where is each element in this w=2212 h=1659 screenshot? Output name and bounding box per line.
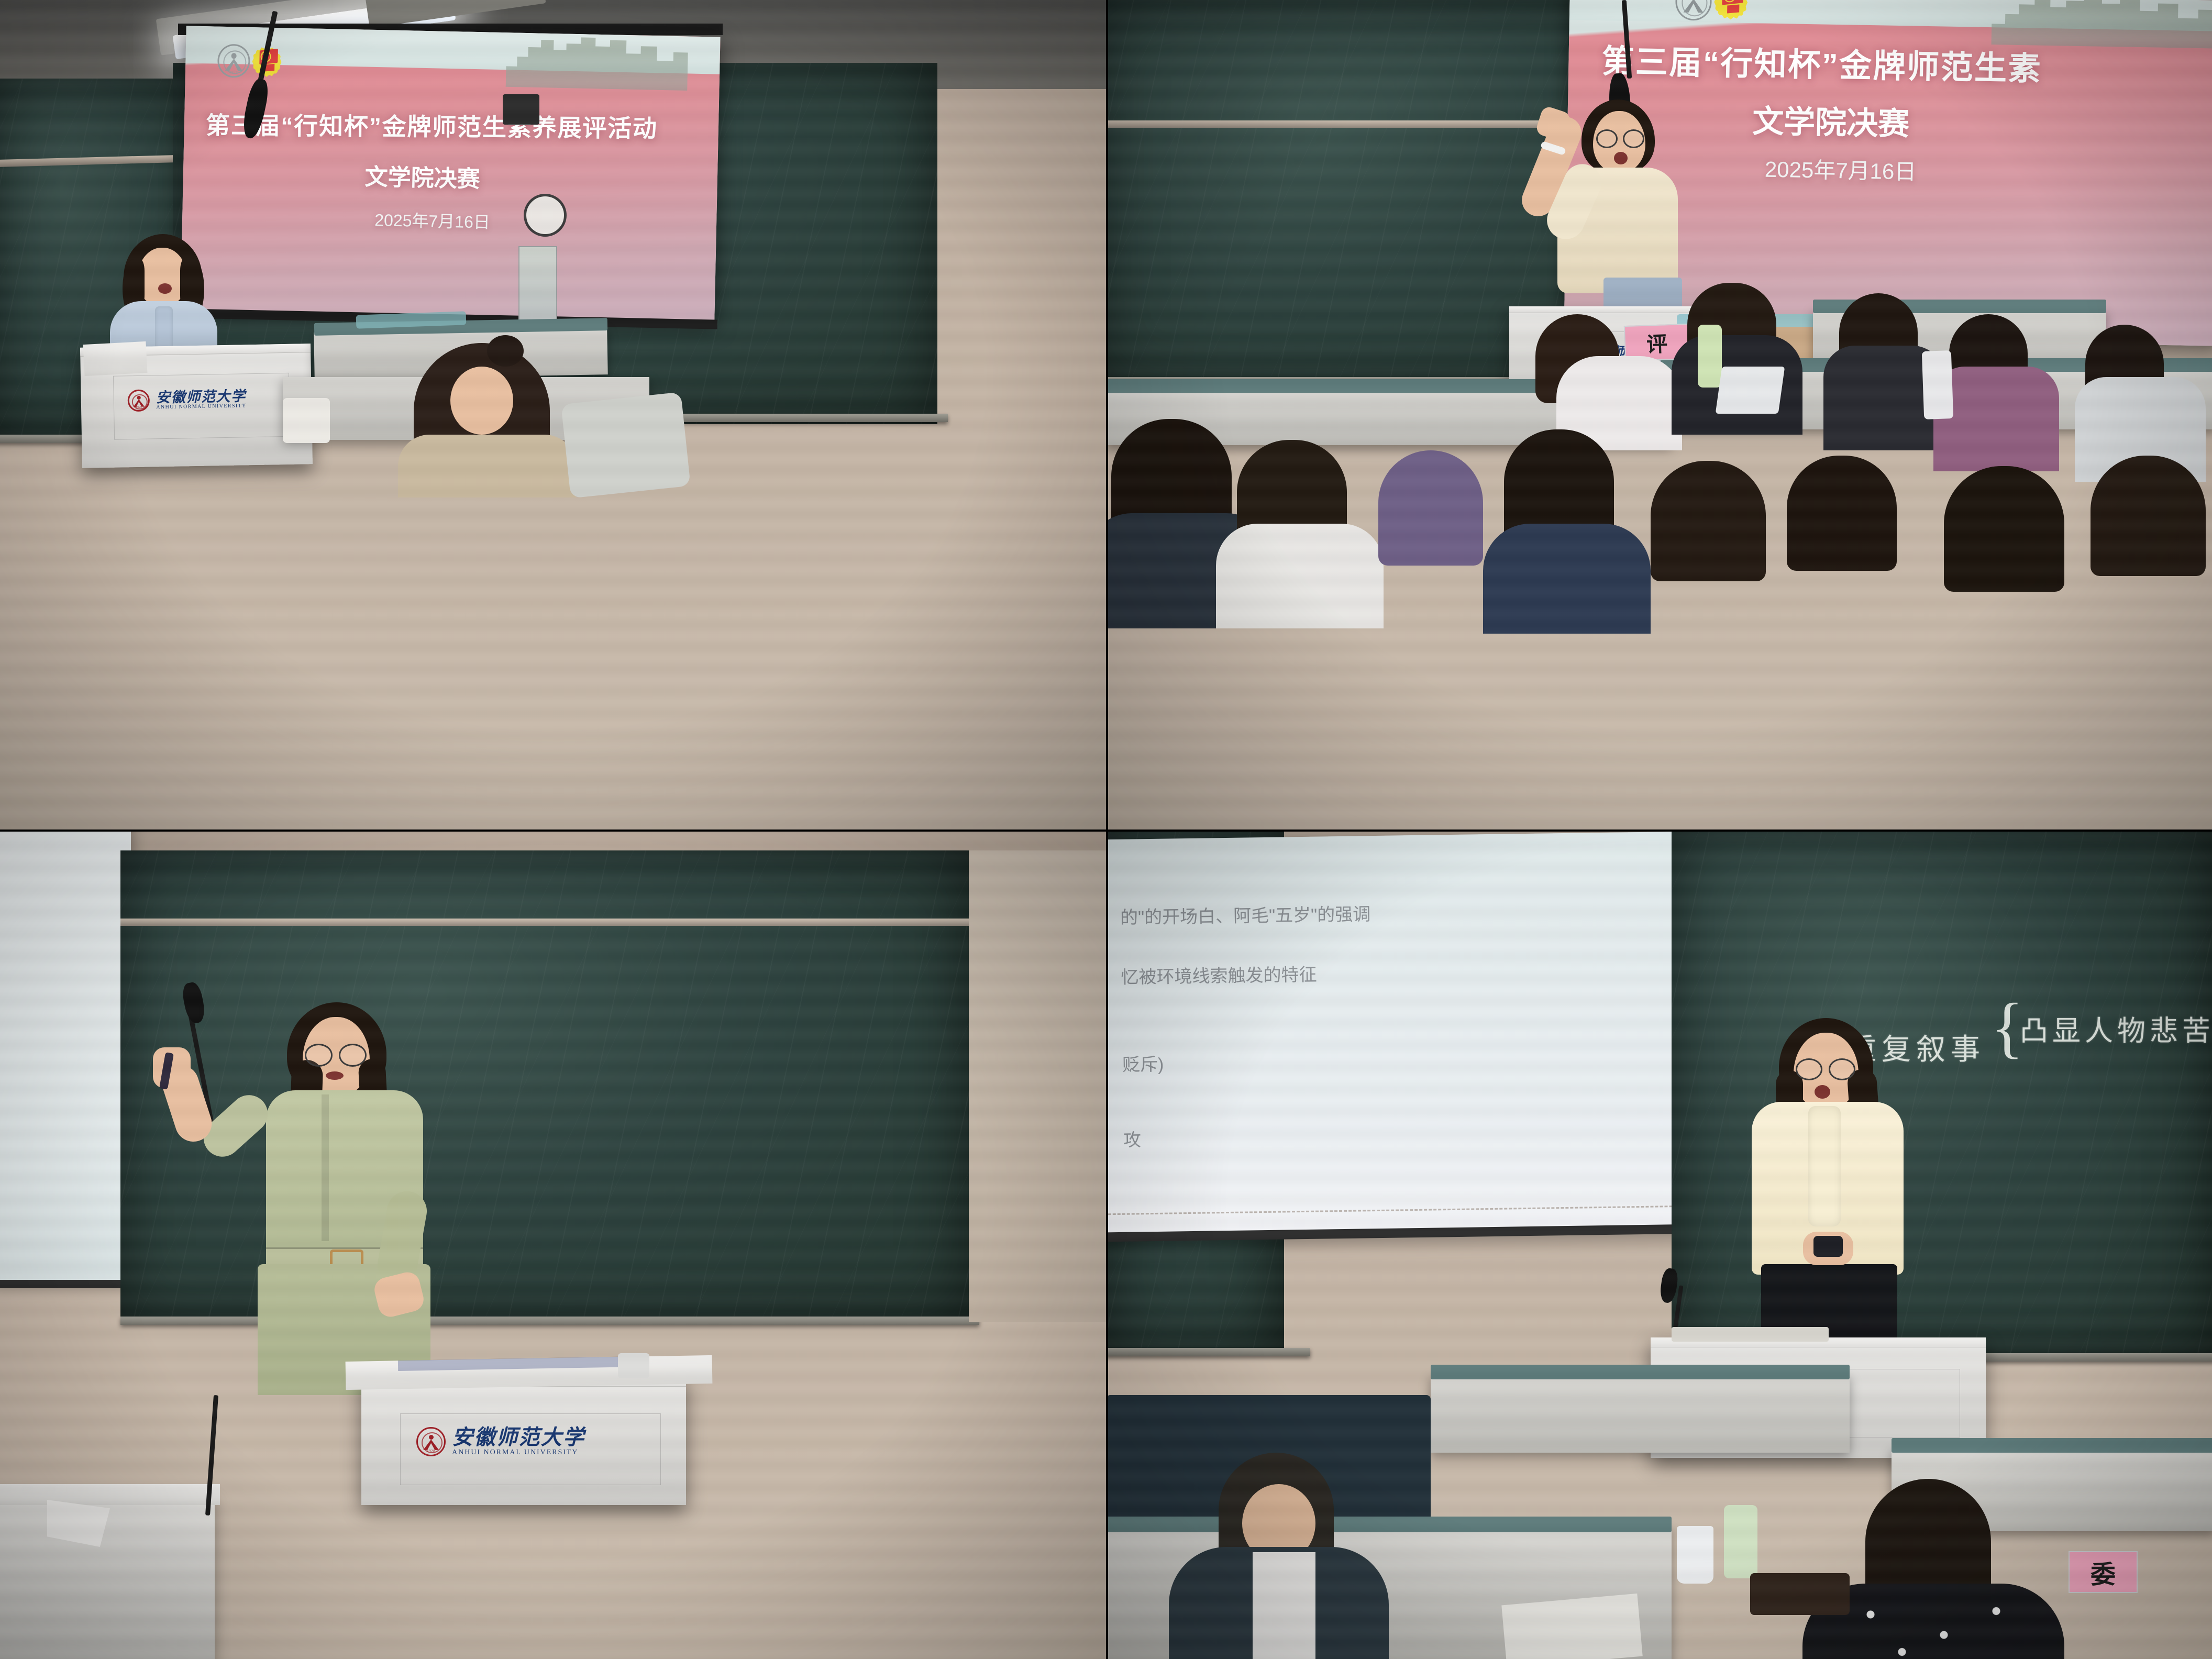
audience-hair-bun <box>487 335 524 367</box>
audience-head-h <box>1378 450 1483 566</box>
judge-desk-edge <box>1431 1365 1850 1379</box>
slide-title: 第三届“行知杯”金牌师范生素 <box>1601 35 2042 90</box>
seal-arch <box>225 59 242 71</box>
contestant-speaker <box>1530 99 1698 325</box>
anu-logo-lockup: 1928 安徽师范大学 ANHUI NORMAL UNIVERSITY <box>128 388 247 412</box>
audience-head-m <box>2091 456 2206 576</box>
podium-plate: 1928 安徽师范大学 ANHUI NORMAL UNIVERSITY <box>400 1413 661 1485</box>
slide-line-3: 贬斥) <box>1122 1049 1164 1076</box>
wall-speaker-box <box>503 94 539 125</box>
lectern-foreground <box>0 1495 215 1659</box>
audience-body-d <box>1933 367 2059 471</box>
audience-body-g <box>1216 524 1384 628</box>
seal-arch <box>1683 0 1704 13</box>
front-row-desk-edge <box>1106 1517 1672 1532</box>
podium-en-text: ANHUI NORMAL UNIVERSITY <box>452 1449 585 1457</box>
mouth <box>158 283 172 294</box>
podium: 1928 安徽师范大学 ANHUI NORMAL UNIVERSITY <box>361 1374 686 1505</box>
contestant-speaker <box>209 1002 429 1390</box>
anhui-normal-university-seal-icon: 1928 <box>217 44 250 78</box>
glasses-lens-left <box>305 1044 333 1067</box>
tissue-box <box>283 398 330 443</box>
wall-poster <box>518 246 557 327</box>
audience-head-j <box>1651 461 1766 581</box>
contestant-speaker <box>1711 1018 1931 1353</box>
podium-en-text: ANHUI NORMAL UNIVERSITY <box>156 404 247 411</box>
judge-polka-dot-dress <box>1829 1594 2038 1659</box>
cyl-book <box>1727 5 1739 14</box>
slide-date: 2025年7月16日 <box>1764 151 1917 186</box>
panel-contestant-with-chalkboard-notes: 的"的开场白、阿毛"五岁"的强调 忆被环境线索触发的特征 贬斥) 攻 重复叙事 … <box>1106 829 2212 1659</box>
classroom-scene-top-right: 第三届“行知杯”金牌师范生素 文学院决赛 2025年7月16日 <box>1106 0 2212 829</box>
anhui-normal-university-seal-icon <box>1675 0 1712 21</box>
judge-desk <box>1431 1374 1850 1453</box>
judge-desk-right-edge <box>1892 1438 2212 1453</box>
clicker-remote <box>1813 1236 1843 1257</box>
wall-right-strip <box>969 850 1106 1322</box>
photo-collage: 1928 第三届“行知杯”金牌师范生素养展评活动 文学院决赛 2025年7月16… <box>0 0 2212 1659</box>
paper-sheet <box>1501 1594 1642 1659</box>
glasses-icon <box>305 1045 367 1065</box>
seal-arch <box>423 1440 439 1450</box>
panel-opening-ceremony: 1928 第三届“行知杯”金牌师范生素养展评活动 文学院决赛 2025年7月16… <box>0 0 1106 829</box>
audience-face-1 <box>450 367 513 435</box>
slide-logo-row <box>1675 0 1748 23</box>
anhui-normal-university-seal-icon: 1928 <box>128 390 150 412</box>
wall-clock-icon <box>524 194 567 237</box>
classroom-scene-bottom-left: 1928 安徽师范大学 ANHUI NORMAL UNIVERSITY <box>0 829 1106 1659</box>
audience-head-l <box>1944 466 2064 592</box>
slide-title: 第三届“行知杯”金牌师范生素养展评活动 <box>206 106 658 144</box>
judge-shirt-left <box>1253 1552 1315 1659</box>
chalk-brace: { <box>1991 997 2023 1058</box>
seal-year: 1928 <box>219 70 248 75</box>
podium-han-text: 安徽师范大学 <box>452 1426 585 1448</box>
glasses-lens-right <box>1829 1058 1855 1080</box>
seal-year: 1928 <box>129 406 148 410</box>
glasses-lens-right <box>339 1044 367 1067</box>
lectern-top <box>0 1484 220 1505</box>
laptop <box>1716 367 1785 414</box>
panel-contestant-presenting: 第三届“行知杯”金牌师范生素 文学院决赛 2025年7月16日 <box>1106 0 2212 829</box>
panel-contestant-lecturing: 1928 安徽师范大学 ANHUI NORMAL UNIVERSITY <box>0 829 1106 1659</box>
slide-line-4: 攻 <box>1123 1125 1142 1151</box>
glasses-lens-right <box>1623 129 1644 148</box>
board-rail-upper <box>120 919 974 926</box>
judge-placard: 委 <box>2069 1551 2138 1593</box>
collage-horizontal-seam <box>0 829 2212 832</box>
seal-year: 1928 <box>418 1449 444 1453</box>
slide-subtitle: 文学院决赛 <box>1752 96 1910 144</box>
classroom-scene-top-left: 1928 第三届“行知杯”金牌师范生素养展评活动 文学院决赛 2025年7月16… <box>0 0 1106 829</box>
glasses-lens-left <box>1796 1058 1822 1080</box>
mouth <box>1614 152 1628 164</box>
glasses-lens-left <box>1596 129 1618 148</box>
audience-shoulder-1 <box>398 435 576 497</box>
paper-cup <box>1922 350 1954 419</box>
mouth <box>326 1071 344 1080</box>
classroom-scene-bottom-right: 的"的开场白、阿毛"五岁"的强调 忆被环境线索触发的特征 贬斥) 攻 重复叙事 … <box>1106 829 2212 1659</box>
water-bottle <box>1724 1505 1757 1578</box>
placard-text: 委 <box>2091 1554 2116 1590</box>
placard-text: 评 <box>1646 327 1668 358</box>
podium-side-ledge <box>83 341 148 376</box>
audience-body-i <box>1483 524 1651 634</box>
anhui-normal-university-seal-icon: 1928 <box>416 1427 446 1456</box>
seal-arch <box>133 399 145 407</box>
podium-han-text: 安徽师范大学 <box>156 389 247 405</box>
communist-youth-league-emblem-icon <box>1714 0 1748 20</box>
paper-cup <box>1677 1526 1713 1584</box>
glasses-icon <box>1796 1060 1855 1079</box>
bag <box>1750 1573 1850 1615</box>
seal-figure-head <box>231 53 237 59</box>
dress-seam <box>322 1094 329 1241</box>
anu-logo-lockup: 1928 安徽师范大学 ANHUI NORMAL UNIVERSITY <box>416 1426 585 1456</box>
podium-plate: 1928 安徽师范大学 ANHUI NORMAL UNIVERSITY <box>113 373 290 439</box>
slide-dashed-frame <box>1106 838 1757 1215</box>
audience-paper <box>561 392 691 498</box>
chalk-tray-left <box>1106 1348 1310 1356</box>
chalk-note-right: 凸显人物悲苦 <box>2020 1008 2212 1049</box>
blank-projection-screen <box>0 829 131 1280</box>
podium-items <box>1672 1327 1829 1342</box>
slide-date: 2025年7月16日 <box>374 207 491 234</box>
slide-subtitle: 文学院决赛 <box>364 158 480 194</box>
water-bottle <box>1698 325 1722 388</box>
slide-line-2: 忆被环境线索触发的特征 <box>1121 960 1317 988</box>
glasses-icon <box>1596 131 1644 147</box>
slide-line-1: 的"的开场白、阿毛"五岁"的强调 <box>1120 900 1371 929</box>
slide-logo-row: 1928 <box>217 41 282 82</box>
bow-tie-detail <box>1808 1106 1841 1226</box>
seal-figure-head <box>137 396 141 400</box>
mouth <box>1815 1085 1830 1099</box>
audience-head-k <box>1787 456 1897 571</box>
seal-figure-head <box>429 1435 434 1440</box>
desk-object <box>618 1353 649 1378</box>
